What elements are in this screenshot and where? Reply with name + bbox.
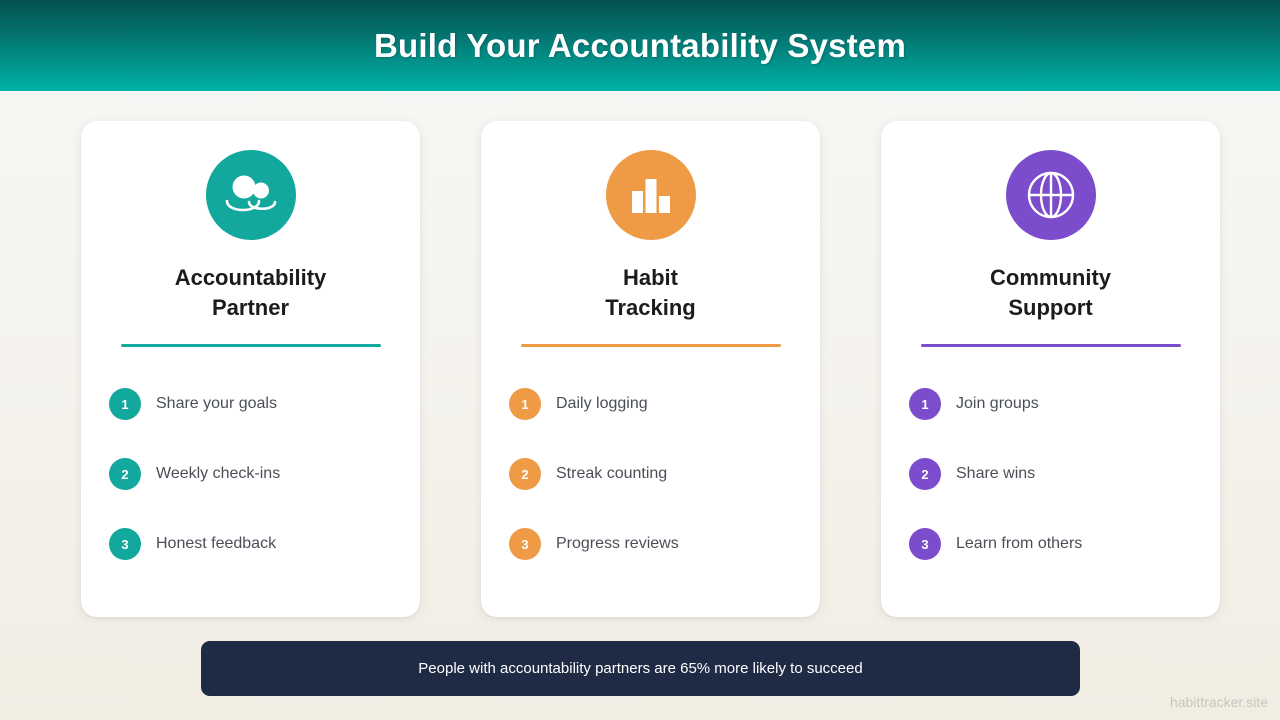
step-label: Daily logging — [556, 395, 648, 413]
step-label: Honest feedback — [156, 535, 276, 553]
card-title: Habit Tracking — [551, 263, 751, 323]
stat-banner-text: People with accountability partners are … — [418, 660, 862, 677]
step-badge: 1 — [909, 388, 941, 420]
card-community-support[interactable]: Community Support 1 Join groups 2 Share … — [881, 121, 1220, 617]
list-item[interactable]: 3 Learn from others — [909, 509, 1192, 579]
stat-banner: People with accountability partners are … — [201, 641, 1080, 696]
list-item[interactable]: 1 Share your goals — [109, 369, 392, 439]
step-label: Join groups — [956, 395, 1039, 413]
list-item[interactable]: 3 Honest feedback — [109, 509, 392, 579]
people-icon — [206, 150, 296, 240]
card-title-line2: Partner — [212, 295, 289, 320]
list-item[interactable]: 2 Weekly check-ins — [109, 439, 392, 509]
list-item[interactable]: 2 Share wins — [909, 439, 1192, 509]
step-list: 1 Share your goals 2 Weekly check-ins 3 … — [81, 369, 420, 579]
step-badge: 1 — [109, 388, 141, 420]
list-item[interactable]: 2 Streak counting — [509, 439, 792, 509]
step-badge: 3 — [109, 528, 141, 560]
step-badge: 3 — [509, 528, 541, 560]
step-list: 1 Daily logging 2 Streak counting 3 Prog… — [481, 369, 820, 579]
list-item[interactable]: 3 Progress reviews — [509, 509, 792, 579]
globe-icon — [1006, 150, 1096, 240]
step-label: Streak counting — [556, 465, 667, 483]
card-grid: Accountability Partner 1 Share your goal… — [81, 121, 1220, 617]
step-badge: 2 — [509, 458, 541, 490]
step-label: Learn from others — [956, 535, 1082, 553]
title-divider — [121, 344, 381, 347]
card-habit-tracking[interactable]: Habit Tracking 1 Daily logging 2 Streak … — [481, 121, 820, 617]
step-badge: 1 — [509, 388, 541, 420]
bar-chart-icon — [606, 150, 696, 240]
step-label: Share your goals — [156, 395, 277, 413]
title-divider — [521, 344, 781, 347]
card-title: Accountability Partner — [151, 263, 351, 323]
step-badge: 2 — [909, 458, 941, 490]
list-item[interactable]: 1 Join groups — [909, 369, 1192, 439]
page-title: Build Your Accountability System — [374, 27, 906, 65]
card-title-line2: Support — [1008, 295, 1092, 320]
card-title-line2: Tracking — [605, 295, 695, 320]
card-title-line1: Accountability — [175, 265, 327, 290]
card-title-line1: Habit — [623, 265, 678, 290]
card-title-line1: Community — [990, 265, 1111, 290]
watermark: habittracker.site — [1170, 694, 1268, 710]
step-badge: 2 — [109, 458, 141, 490]
step-badge: 3 — [909, 528, 941, 560]
title-divider — [921, 344, 1181, 347]
step-label: Progress reviews — [556, 535, 679, 553]
list-item[interactable]: 1 Daily logging — [509, 369, 792, 439]
page-header: Build Your Accountability System — [0, 0, 1280, 91]
card-accountability-partner[interactable]: Accountability Partner 1 Share your goal… — [81, 121, 420, 617]
card-title: Community Support — [951, 263, 1151, 323]
step-label: Weekly check-ins — [156, 465, 280, 483]
step-label: Share wins — [956, 465, 1035, 483]
step-list: 1 Join groups 2 Share wins 3 Learn from … — [881, 369, 1220, 579]
